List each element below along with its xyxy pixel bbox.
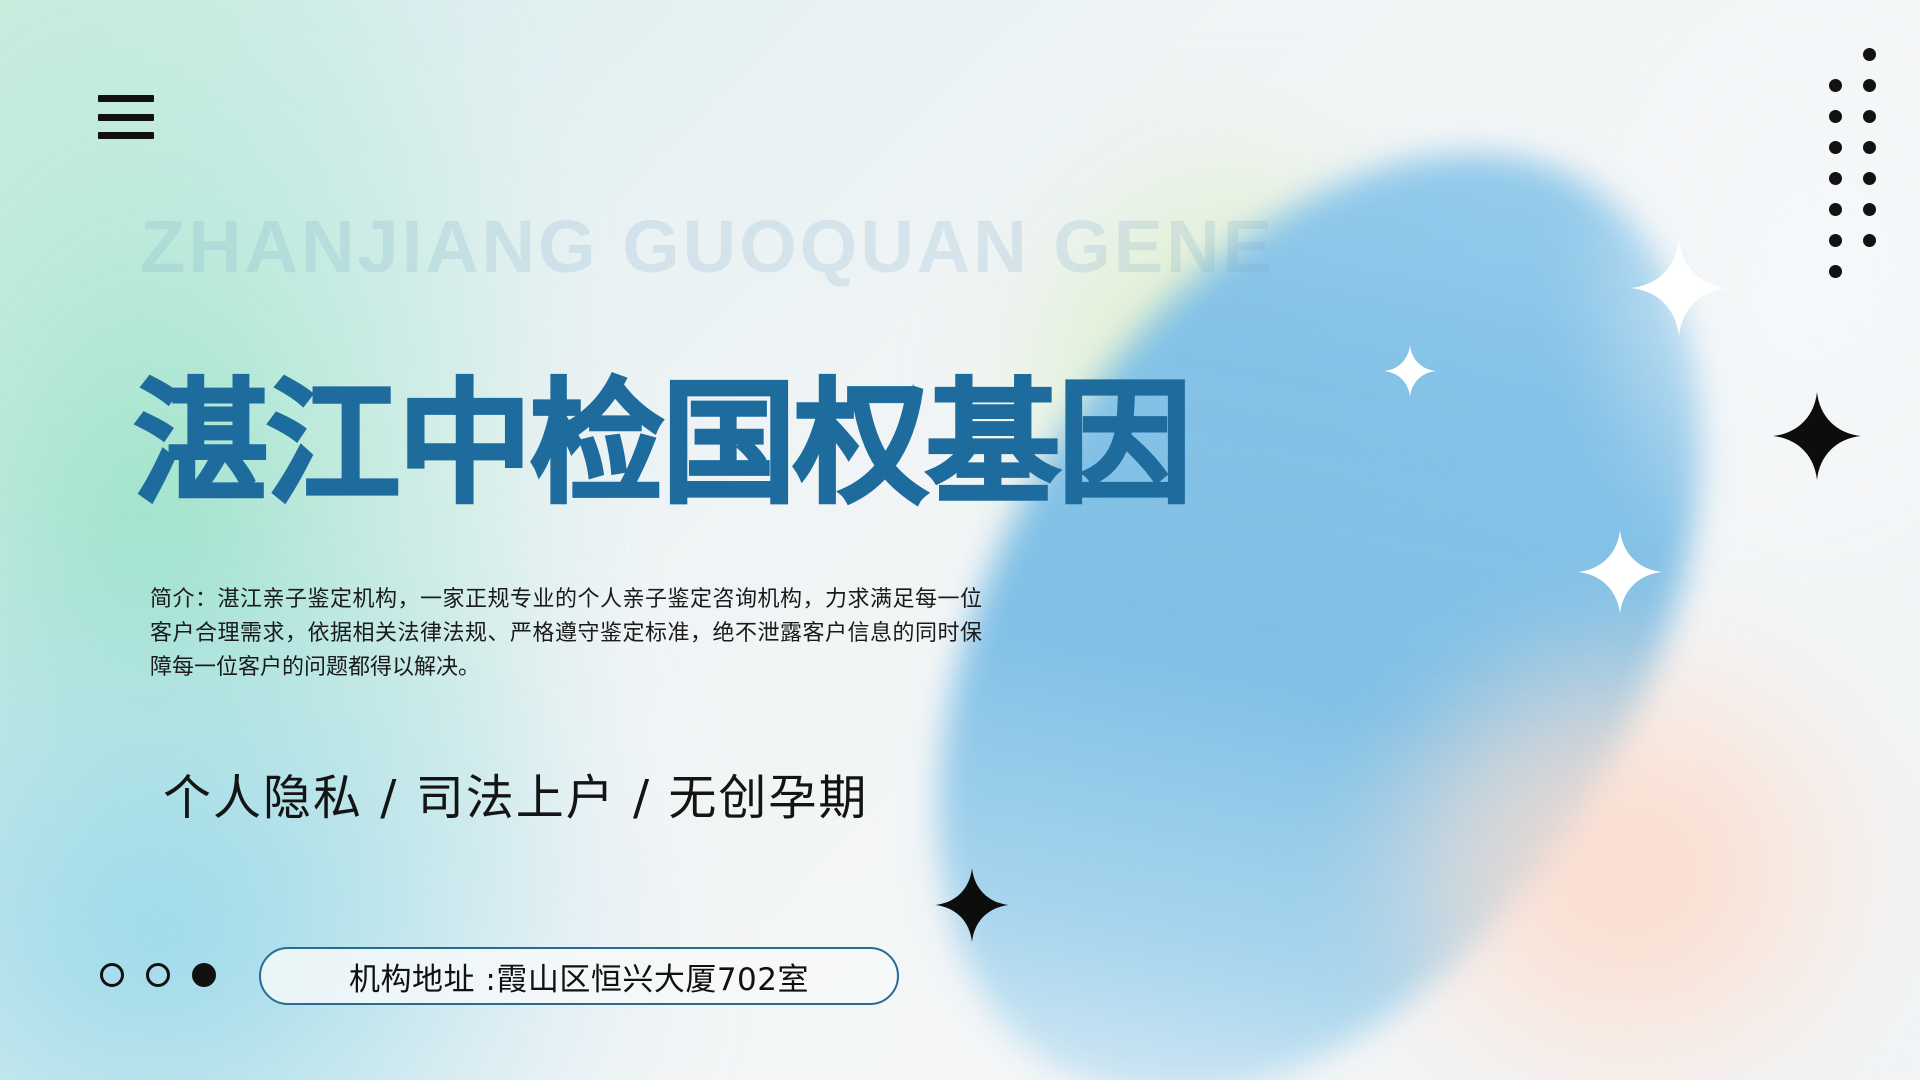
page-dot-1[interactable]	[100, 963, 124, 987]
pagination-dots[interactable]	[100, 963, 216, 987]
dot-grid-dot	[1863, 110, 1876, 123]
dot-grid-dot	[1863, 141, 1876, 154]
dot-grid-dot	[1829, 265, 1842, 278]
sparkle-white-medium-icon	[1578, 530, 1662, 614]
dot-grid-icon	[1829, 48, 1887, 248]
dot-grid-dot	[1829, 234, 1842, 247]
sparkle-black-bottom-icon	[935, 868, 1009, 942]
dot-grid-dot	[1829, 110, 1842, 123]
dot-grid-dot	[1829, 203, 1842, 216]
dot-grid-dot	[1829, 172, 1842, 185]
dot-grid-dot	[1829, 141, 1842, 154]
intro-description: 简介：湛江亲子鉴定机构，一家正规专业的个人亲子鉴定咨询机构，力求满足每一位客户合…	[150, 583, 982, 685]
hamburger-line-1	[98, 95, 154, 102]
dot-grid-dot	[1829, 79, 1842, 92]
dot-grid-dot	[1863, 48, 1876, 61]
watermark-text: ZHANJIANG GUOQUAN GENE	[140, 204, 1275, 289]
address-label: 机构地址 :霞山区恒兴大厦702室	[349, 954, 809, 999]
dot-grid-dot	[1863, 172, 1876, 185]
sparkle-white-large-icon	[1631, 240, 1727, 336]
page-dot-2[interactable]	[146, 963, 170, 987]
page-dot-3[interactable]	[192, 963, 216, 987]
dot-grid-dot	[1863, 203, 1876, 216]
dot-grid-dot	[1863, 234, 1876, 247]
hamburger-menu-icon[interactable]	[98, 95, 154, 139]
dot-grid-dot	[1863, 79, 1876, 92]
hamburger-line-3	[98, 132, 154, 139]
address-pill-button[interactable]: 机构地址 :霞山区恒兴大厦702室	[259, 947, 899, 1005]
sparkle-black-right-icon	[1773, 392, 1861, 480]
page-title: 湛江中检国权基因	[134, 373, 1190, 515]
service-tagline: 个人隐私 / 司法上户 / 无创孕期	[163, 770, 868, 828]
hamburger-line-2	[98, 114, 154, 121]
sparkle-white-small-icon	[1384, 345, 1436, 397]
poster-canvas: ZHANJIANG GUOQUAN GENE 湛江中检国权基因 简介：湛江亲子鉴…	[0, 0, 1920, 1080]
